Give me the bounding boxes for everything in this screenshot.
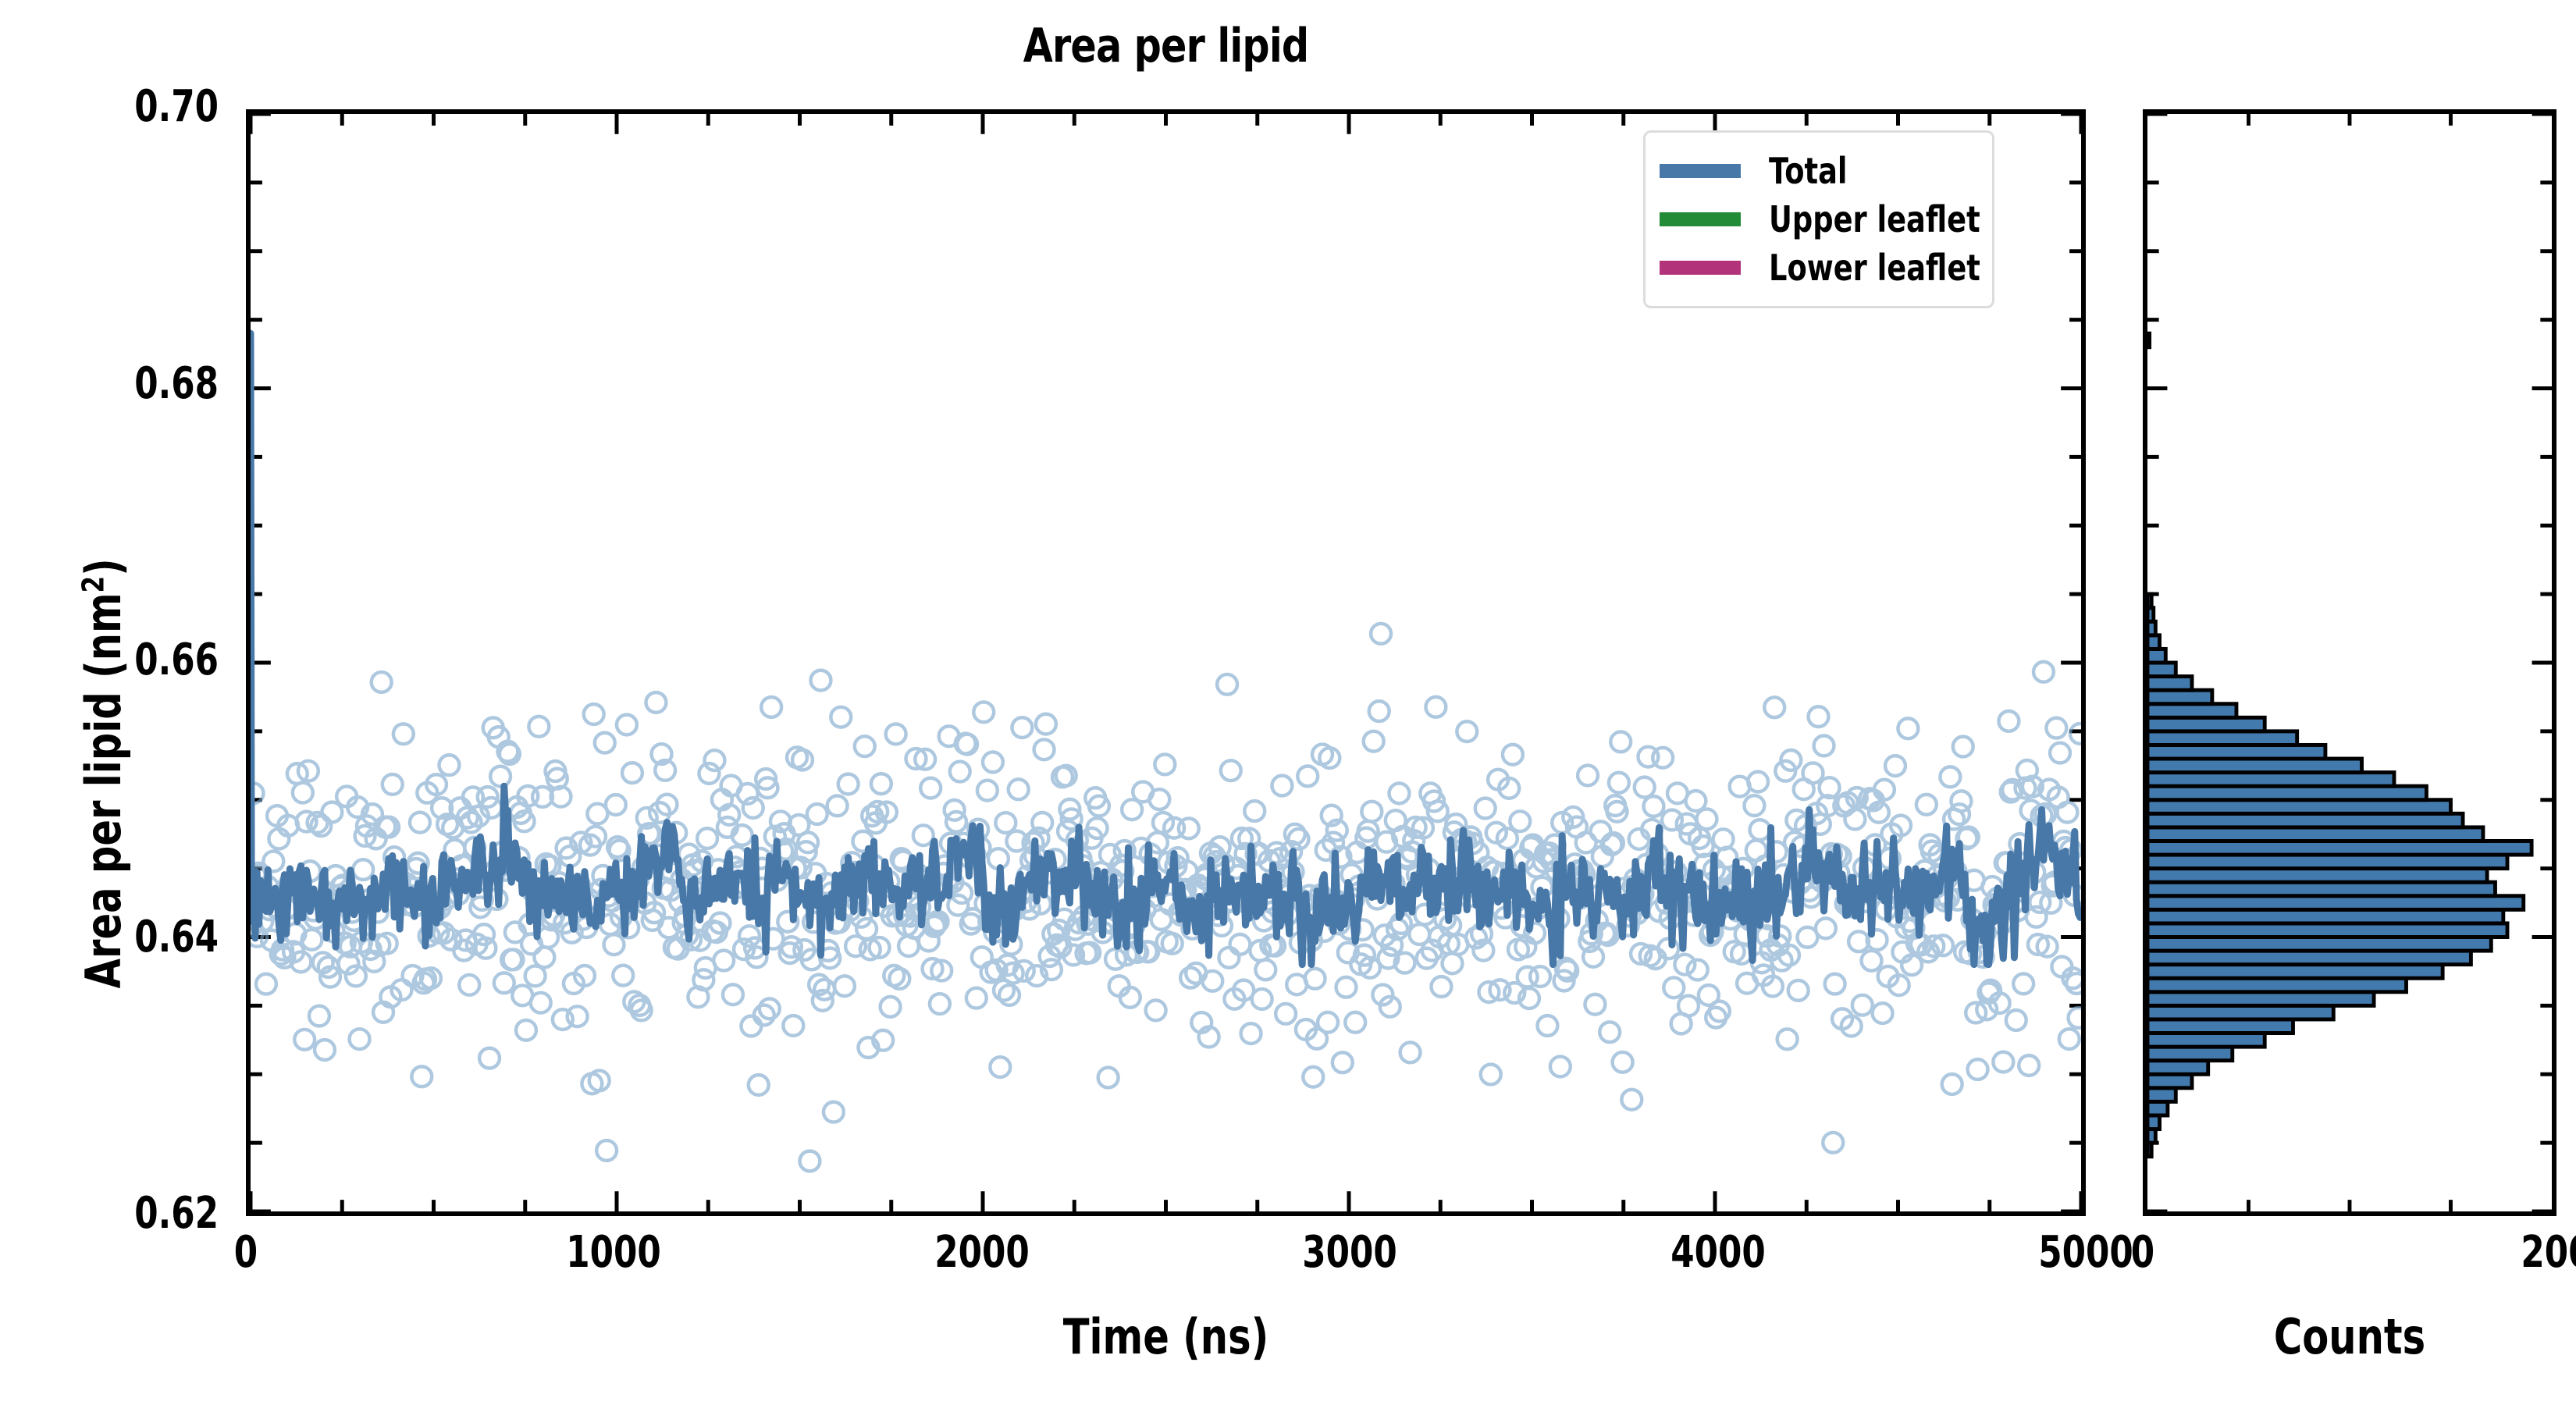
legend-swatch-upper-leaflet bbox=[1660, 212, 1741, 226]
figure-area-per-lipid: Area per lipid 0.620.640.660.680.7001000… bbox=[0, 0, 2576, 1405]
legend-label-total: Total bbox=[1769, 150, 1848, 192]
y-axis-title-close: ) bbox=[75, 558, 132, 576]
x-tick-label-0: 0 bbox=[124, 1227, 368, 1278]
counts-tick-label-200: 200 bbox=[2435, 1227, 2576, 1278]
x-axis-title-histogram: Counts bbox=[2184, 1308, 2515, 1365]
legend-entry-upper-leaflet[interactable]: Upper leaflet bbox=[1660, 195, 1976, 244]
y-tick-label-0-70: 0.70 bbox=[66, 81, 219, 132]
x-tick-label-4000: 4000 bbox=[1596, 1227, 1840, 1278]
y-axis-title-exponent: 2 bbox=[76, 576, 111, 592]
legend-label-lower-leaflet: Lower leaflet bbox=[1769, 247, 1980, 289]
histogram-panel bbox=[2143, 109, 2556, 1216]
counts-histogram bbox=[2147, 114, 2552, 1211]
x-tick-label-1000: 1000 bbox=[492, 1227, 735, 1278]
page-title: Area per lipid bbox=[411, 19, 1920, 73]
legend-label-upper-leaflet: Upper leaflet bbox=[1769, 198, 1980, 240]
y-axis-title-text: Area per lipid (nm bbox=[75, 592, 132, 988]
x-tick-label-3000: 3000 bbox=[1228, 1227, 1471, 1278]
legend-entry-lower-leaflet[interactable]: Lower leaflet bbox=[1660, 244, 1976, 292]
legend-entry-total[interactable]: Total bbox=[1660, 147, 1976, 195]
legend-swatch-lower-leaflet bbox=[1660, 261, 1741, 275]
x-axis-title-main: Time (ns) bbox=[430, 1308, 1902, 1365]
counts-tick-label-0: 0 bbox=[2021, 1227, 2265, 1278]
y-axis-title: Area per lipid (nm2) bbox=[75, 331, 132, 1216]
legend: Total Upper leaflet Lower leaflet bbox=[1643, 130, 1994, 308]
x-tick-label-2000: 2000 bbox=[860, 1227, 1104, 1278]
legend-swatch-total bbox=[1660, 164, 1741, 178]
